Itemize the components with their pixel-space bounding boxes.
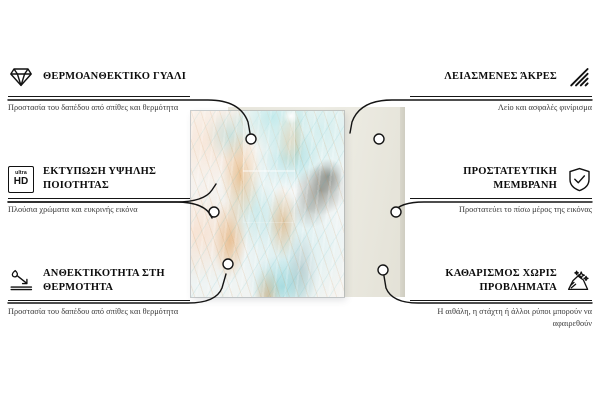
product-glass-panel: [191, 111, 344, 297]
feature-title: ΘΕΡΜΟΑΝΘΕΚΤΙΚΟ ΓΥΑΛΙ: [43, 70, 186, 84]
feature-description: Προστασία του δαπέδου από σπίθες και θερ…: [8, 102, 190, 114]
glass-sheen: [191, 111, 344, 297]
product-image-stage: [191, 107, 405, 297]
feature-description: Προστατεύει το πίσω μέρος της εικόνας: [410, 204, 592, 216]
feature-block-heat-resistance: ΑΝΘΕΚΤΙΚΟΤΗΤΑ ΣΤΗ ΘΕΡΜΟΤΗΤΑ Προστασία το…: [8, 266, 190, 318]
feature-description: Προστασία του δαπέδου από σπίθες και θερ…: [8, 306, 190, 318]
feature-description: Η αιθάλη, η στάχτη ή άλλοι ρύποι μπορούν…: [410, 306, 592, 331]
feature-heading: ΚΑΘΑΡΙΣΜΟΣ ΧΩΡΙΣ ΠΡΟΒΛΗΜΑΤΑ: [410, 266, 592, 296]
feature-divider: [410, 300, 592, 301]
feature-heading: ΠΡΟΣΤΑΤΕΥΤΙΚΗ ΜΕΜΒΡΑΝΗ: [410, 164, 592, 194]
feature-title: ΑΝΘΕΚΤΙΚΟΤΗΤΑ ΣΤΗ ΘΕΡΜΟΤΗΤΑ: [43, 267, 190, 295]
ultra-hd-badge-bottom-label: HD: [14, 177, 28, 187]
feature-divider: [410, 96, 592, 97]
feature-title: ΠΡΟΣΤΑΤΕΥΤΙΚΗ ΜΕΜΒΡΑΝΗ: [410, 165, 557, 193]
feature-divider: [8, 300, 190, 301]
feature-divider: [410, 198, 592, 199]
glass-glint-highlight: [283, 111, 299, 124]
feature-title: ΛΕΙΑΣΜΕΝΕΣ ΆΚΡΕΣ: [444, 70, 557, 84]
feature-block-protective-membrane: ΠΡΟΣΤΑΤΕΥΤΙΚΗ ΜΕΜΒΡΑΝΗ Προστατεύει το πί…: [410, 164, 592, 216]
heat-resistance-icon: [8, 268, 34, 294]
sparkle-cloth-icon: [566, 268, 592, 294]
feature-heading: ΛΕΙΑΣΜΕΝΕΣ ΆΚΡΕΣ: [410, 62, 592, 92]
shield-check-icon: [566, 166, 592, 192]
feature-block-high-quality-print: ultra HD ΕΚΤΥΠΩΣΗ ΥΨΗΛΗΣ ΠΟΙΟΤΗΤΑΣ Πλούσ…: [8, 164, 190, 216]
feature-block-easy-cleaning: ΚΑΘΑΡΙΣΜΟΣ ΧΩΡΙΣ ΠΡΟΒΛΗΜΑΤΑ Η αιθάλη, η …: [410, 266, 592, 331]
feature-description: Πλούσια χρώματα και ευκρινής εικόνα: [8, 204, 190, 216]
ultra-hd-badge-icon: ultra HD: [8, 166, 34, 192]
feature-heading: ΘΕΡΜΟΑΝΘΕΚΤΙΚΟ ΓΥΑΛΙ: [8, 62, 190, 92]
feature-block-heat-resistant-glass: ΘΕΡΜΟΑΝΘΕΚΤΙΚΟ ΓΥΑΛΙ Προστασία του δαπέδ…: [8, 62, 190, 114]
diamond-icon: [8, 64, 34, 90]
feature-divider: [8, 96, 190, 97]
feature-block-polished-edges: ΛΕΙΑΣΜΕΝΕΣ ΆΚΡΕΣ Λείο και ασφαλές φινίρι…: [410, 62, 592, 114]
feature-heading: ΑΝΘΕΚΤΙΚΟΤΗΤΑ ΣΤΗ ΘΕΡΜΟΤΗΤΑ: [8, 266, 190, 296]
feature-description: Λείο και ασφαλές φινίρισμα: [410, 102, 592, 114]
feature-divider: [8, 198, 190, 199]
feature-title: ΕΚΤΥΠΩΣΗ ΥΨΗΛΗΣ ΠΟΙΟΤΗΤΑΣ: [43, 165, 190, 193]
feature-heading: ultra HD ΕΚΤΥΠΩΣΗ ΥΨΗΛΗΣ ΠΟΙΟΤΗΤΑΣ: [8, 164, 190, 194]
polished-edges-icon: [566, 64, 592, 90]
feature-title: ΚΑΘΑΡΙΣΜΟΣ ΧΩΡΙΣ ΠΡΟΒΛΗΜΑΤΑ: [410, 267, 557, 295]
